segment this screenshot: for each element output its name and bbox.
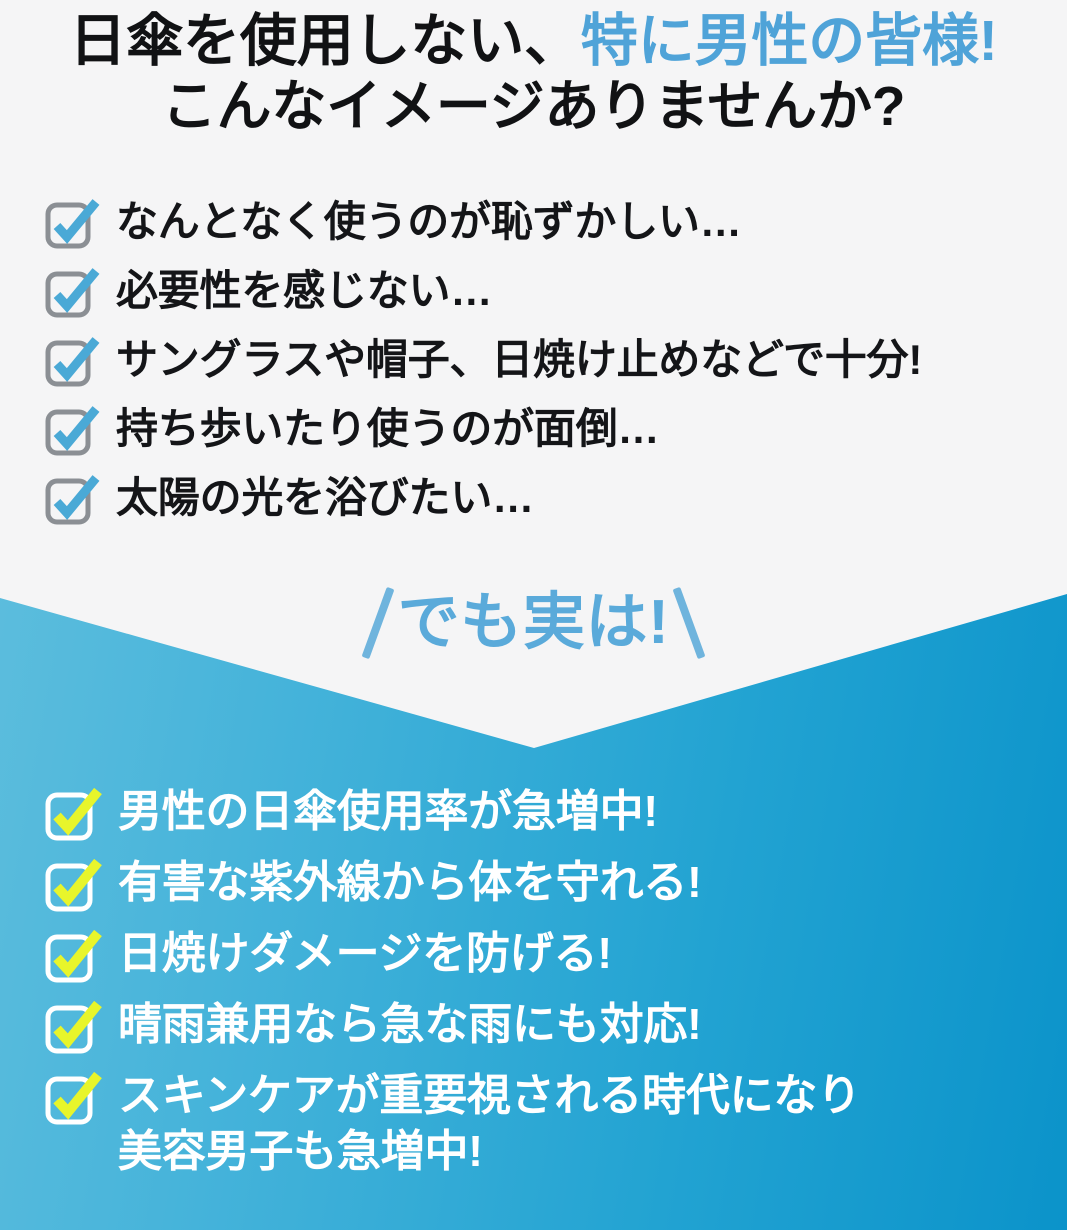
list-item-label: 男性の日傘使用率が急増中! bbox=[118, 784, 658, 840]
list-item: なんとなく使うのが恥ずかしい… bbox=[44, 196, 1034, 252]
checkbox-checked-icon bbox=[44, 474, 102, 526]
checkbox-checked-icon bbox=[44, 858, 104, 912]
checkbox-checked-icon bbox=[44, 198, 102, 250]
list-item-label: 太陽の光を浴びたい… bbox=[116, 472, 534, 524]
list-item: 晴雨兼用なら急な雨にも対応! bbox=[44, 997, 1044, 1054]
headline: 日傘を使用しない、特に男性の皆様! こんなイメージありませんか? bbox=[0, 0, 1067, 137]
list-item-label: 晴雨兼用なら急な雨にも対応! bbox=[118, 997, 702, 1053]
list-item-label-line2: 美容男子も急増中! bbox=[118, 1124, 861, 1180]
checkbox-checked-icon bbox=[44, 929, 104, 983]
top-checklist: なんとなく使うのが恥ずかしい… 必要性を感じない… bbox=[44, 196, 1034, 541]
list-item-label: スキンケアが重要視される時代になり 美容男子も急増中! bbox=[118, 1068, 861, 1180]
checkbox-checked-icon bbox=[44, 787, 104, 841]
list-item-label-line1: 有害な紫外線から体を守れる! bbox=[118, 858, 702, 907]
list-item-label: 日焼けダメージを防げる! bbox=[118, 926, 612, 982]
list-item-label-line1: 日焼けダメージを防げる! bbox=[118, 929, 612, 978]
slash-left-icon bbox=[361, 587, 394, 659]
checkbox-checked-icon bbox=[44, 1000, 104, 1054]
divider-band-text: でも実は! bbox=[398, 592, 670, 654]
checkbox-checked-icon bbox=[44, 267, 102, 319]
list-item: 男性の日傘使用率が急増中! bbox=[44, 784, 1044, 841]
list-item-label: サングラスや帽子、日焼け止めなどで十分! bbox=[116, 334, 922, 386]
headline-line-1-accent: 特に男性の皆様! bbox=[581, 9, 998, 73]
promo-poster: 日傘を使用しない、特に男性の皆様! こんなイメージありませんか? なんとなく使う… bbox=[0, 0, 1067, 1230]
list-item-label-line1: スキンケアが重要視される時代になり bbox=[118, 1071, 861, 1120]
headline-line-1-black: 日傘を使用しない、 bbox=[69, 9, 581, 73]
list-item: 日焼けダメージを防げる! bbox=[44, 926, 1044, 983]
list-item-label: 必要性を感じない… bbox=[116, 265, 492, 317]
list-item-label: 有害な紫外線から体を守れる! bbox=[118, 855, 702, 911]
divider-band: でも実は! bbox=[0, 586, 1067, 660]
checkbox-checked-icon bbox=[44, 1071, 104, 1125]
list-item: 有害な紫外線から体を守れる! bbox=[44, 855, 1044, 912]
headline-line-2: こんなイメージありませんか? bbox=[0, 76, 1067, 138]
list-item: サングラスや帽子、日焼け止めなどで十分! bbox=[44, 334, 1034, 390]
list-item-label: なんとなく使うのが恥ずかしい… bbox=[116, 196, 742, 248]
checkbox-checked-icon bbox=[44, 405, 102, 457]
list-item: 太陽の光を浴びたい… bbox=[44, 472, 1034, 528]
list-item-label-line1: 男性の日傘使用率が急増中! bbox=[118, 787, 658, 836]
list-item: 持ち歩いたり使うのが面倒… bbox=[44, 403, 1034, 459]
list-item-label: 持ち歩いたり使うのが面倒… bbox=[116, 403, 659, 455]
checkbox-checked-icon bbox=[44, 336, 102, 388]
blue-checklist: 男性の日傘使用率が急増中! 有害な紫外線から体を守れる! bbox=[44, 784, 1044, 1194]
list-item: 必要性を感じない… bbox=[44, 265, 1034, 321]
slash-right-icon bbox=[673, 587, 706, 659]
headline-line-1: 日傘を使用しない、特に男性の皆様! bbox=[0, 10, 1067, 74]
list-item: スキンケアが重要視される時代になり 美容男子も急増中! bbox=[44, 1068, 1044, 1180]
list-item-label-line1: 晴雨兼用なら急な雨にも対応! bbox=[118, 1000, 702, 1049]
top-section: 日傘を使用しない、特に男性の皆様! こんなイメージありませんか? なんとなく使う… bbox=[0, 0, 1067, 600]
